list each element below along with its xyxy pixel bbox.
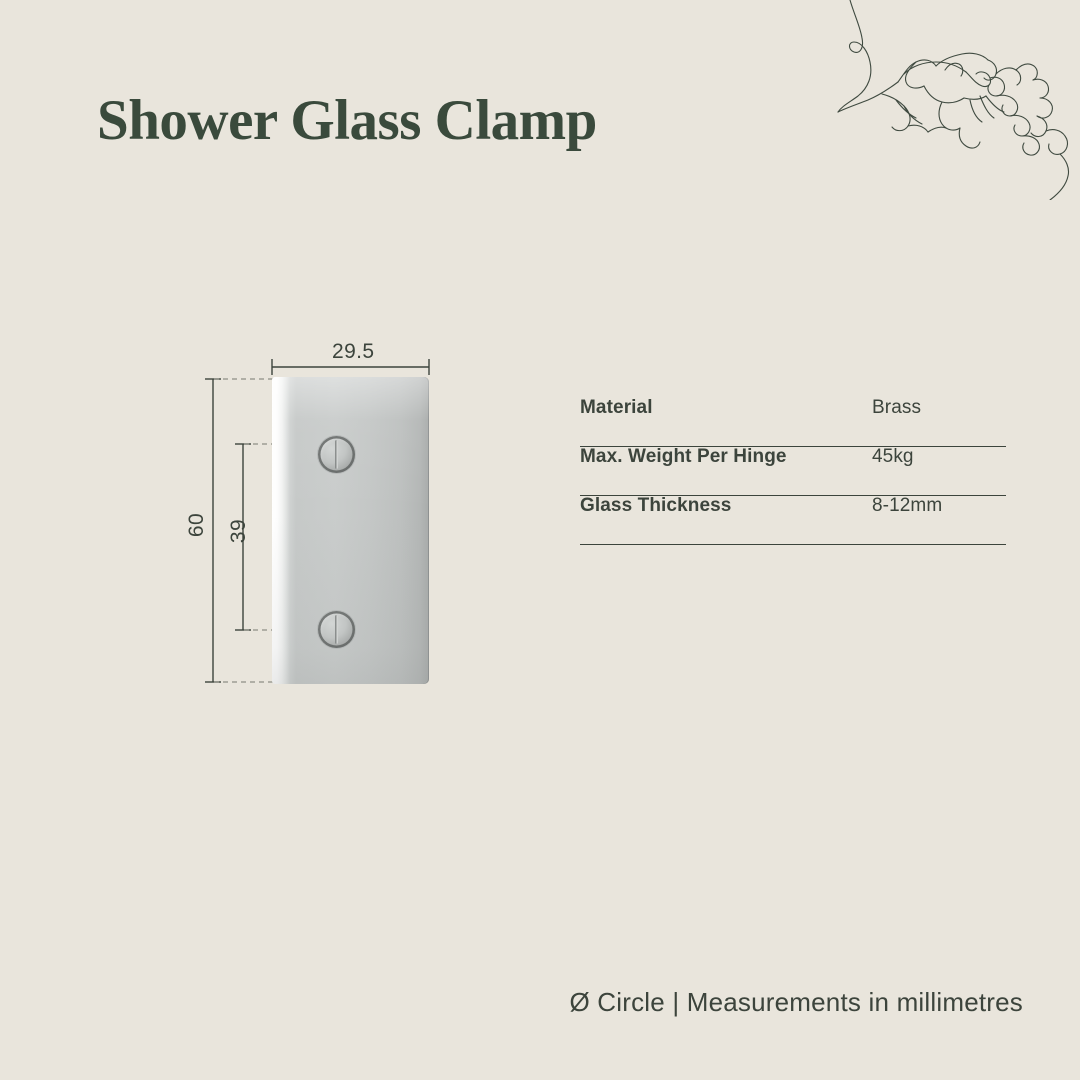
spec-label: Material: [580, 398, 872, 418]
spec-label: Glass Thickness: [580, 496, 872, 516]
footer-note: Ø Circle | Measurements in millimetres: [569, 987, 1023, 1018]
lobster-line-art: [820, 0, 1080, 200]
spec-value: Brass: [872, 398, 921, 418]
spec-row-material: Material Brass: [580, 398, 1006, 447]
clamp-body: [272, 377, 429, 684]
spec-value: 45kg: [872, 447, 914, 467]
dimension-label-width: 29.5: [332, 340, 374, 364]
screw-bottom-icon: [318, 611, 355, 648]
spec-row-max-weight: Max. Weight Per Hinge 45kg: [580, 447, 1006, 496]
spec-label: Max. Weight Per Hinge: [580, 447, 872, 467]
dimension-label-screw-spacing: 39: [227, 519, 251, 543]
dimension-label-overall-height: 60: [185, 513, 209, 537]
page-title: Shower Glass Clamp: [97, 88, 597, 153]
spec-row-glass-thickness: Glass Thickness 8-12mm: [580, 496, 1006, 545]
spec-value: 8-12mm: [872, 496, 942, 516]
spec-table: Material Brass Max. Weight Per Hinge 45k…: [580, 398, 1006, 545]
screw-top-icon: [318, 436, 355, 473]
spec-sheet-canvas: Shower Glass Clamp: [0, 0, 1080, 1080]
